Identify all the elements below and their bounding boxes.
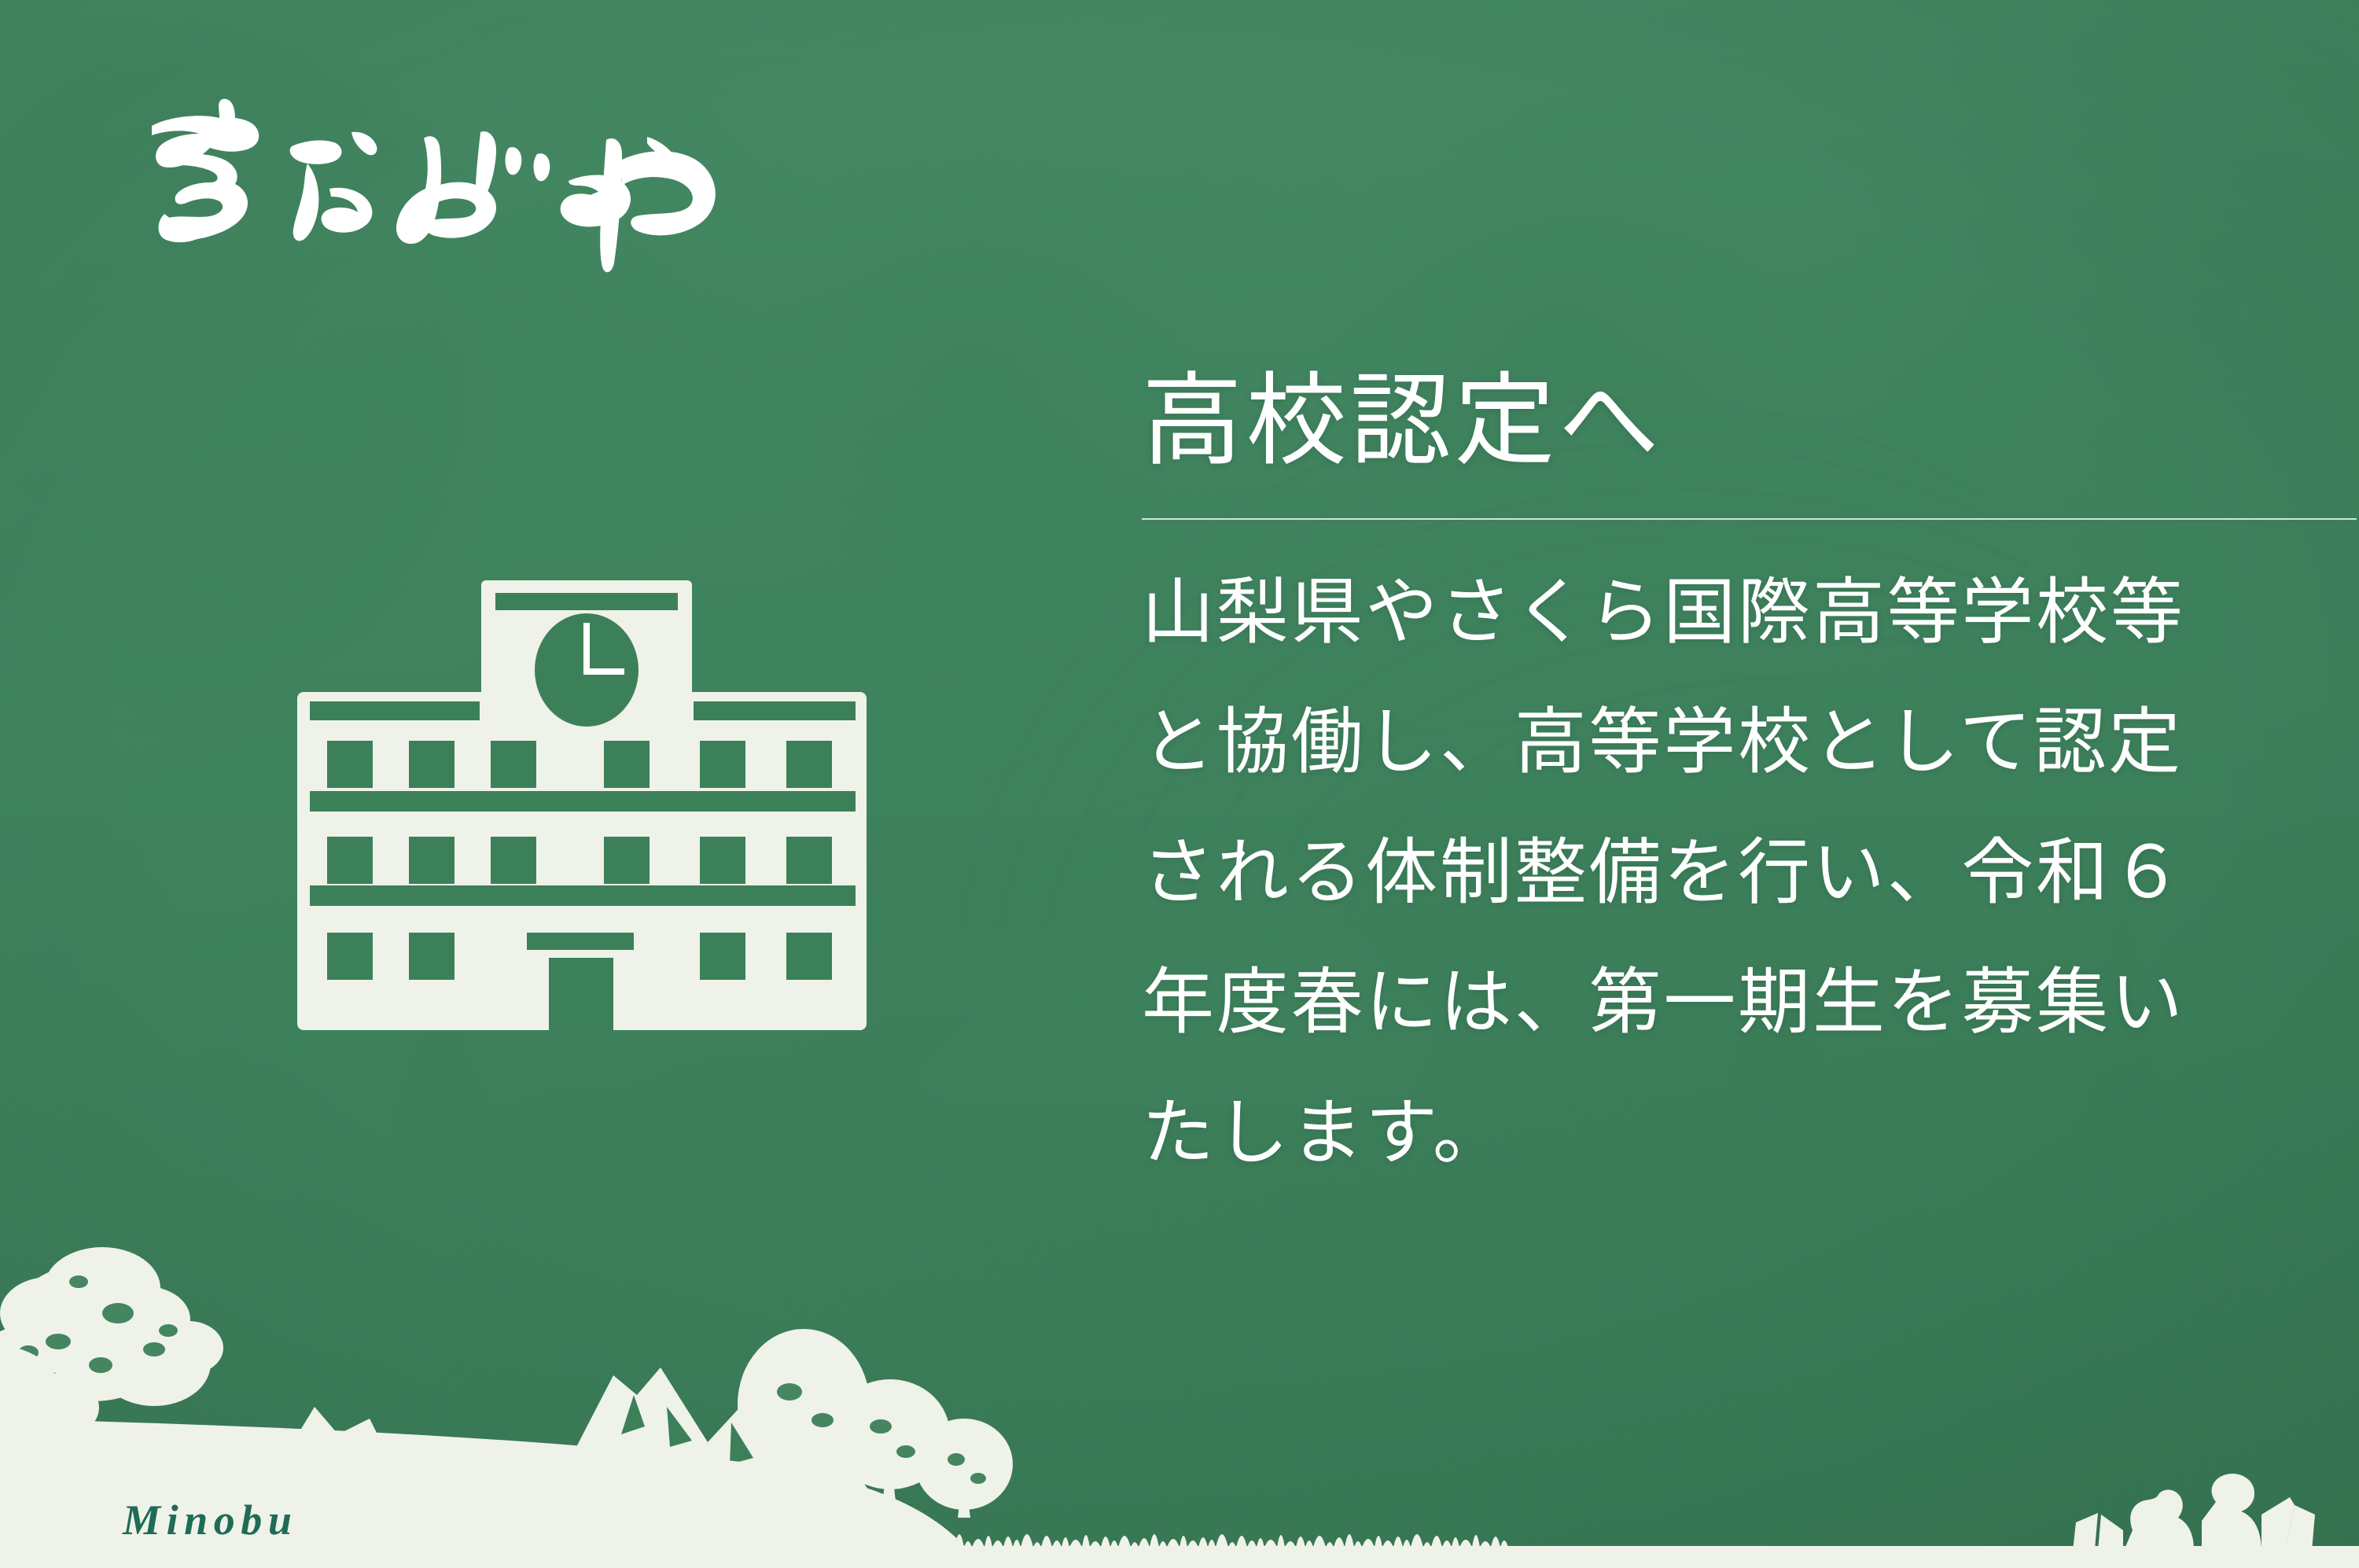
body-line-2: と協働し、高等学校として認定 (1142, 678, 2321, 808)
school-building-icon (259, 566, 904, 1054)
body-line-5: たします。 (1142, 1069, 2321, 1199)
promotional-banner: 高校認定へ 山梨県やさくら国際高等学校等 と協働し、高等学校として認定 される体… (0, 0, 2359, 1568)
page-title: 高校認定へ (1142, 352, 2321, 491)
brand-logo-manabiya[interactable] (138, 88, 767, 283)
body-copy: 山梨県やさくら国際高等学校等 と協働し、高等学校として認定 される体制整備を行い… (1142, 548, 2321, 1199)
title-divider (1142, 518, 2357, 520)
body-line-1: 山梨県やさくら国際高等学校等 (1142, 548, 2321, 679)
body-line-4: 年度春には、第一期生を募集い (1142, 938, 2321, 1069)
place-label-minobu: Minobu (123, 1496, 297, 1544)
text-column: 高校認定へ 山梨県やさくら国際高等学校等 と協働し、高等学校として認定 される体… (1142, 352, 2321, 1199)
body-line-3: される体制整備を行い、令和６ (1142, 808, 2321, 939)
